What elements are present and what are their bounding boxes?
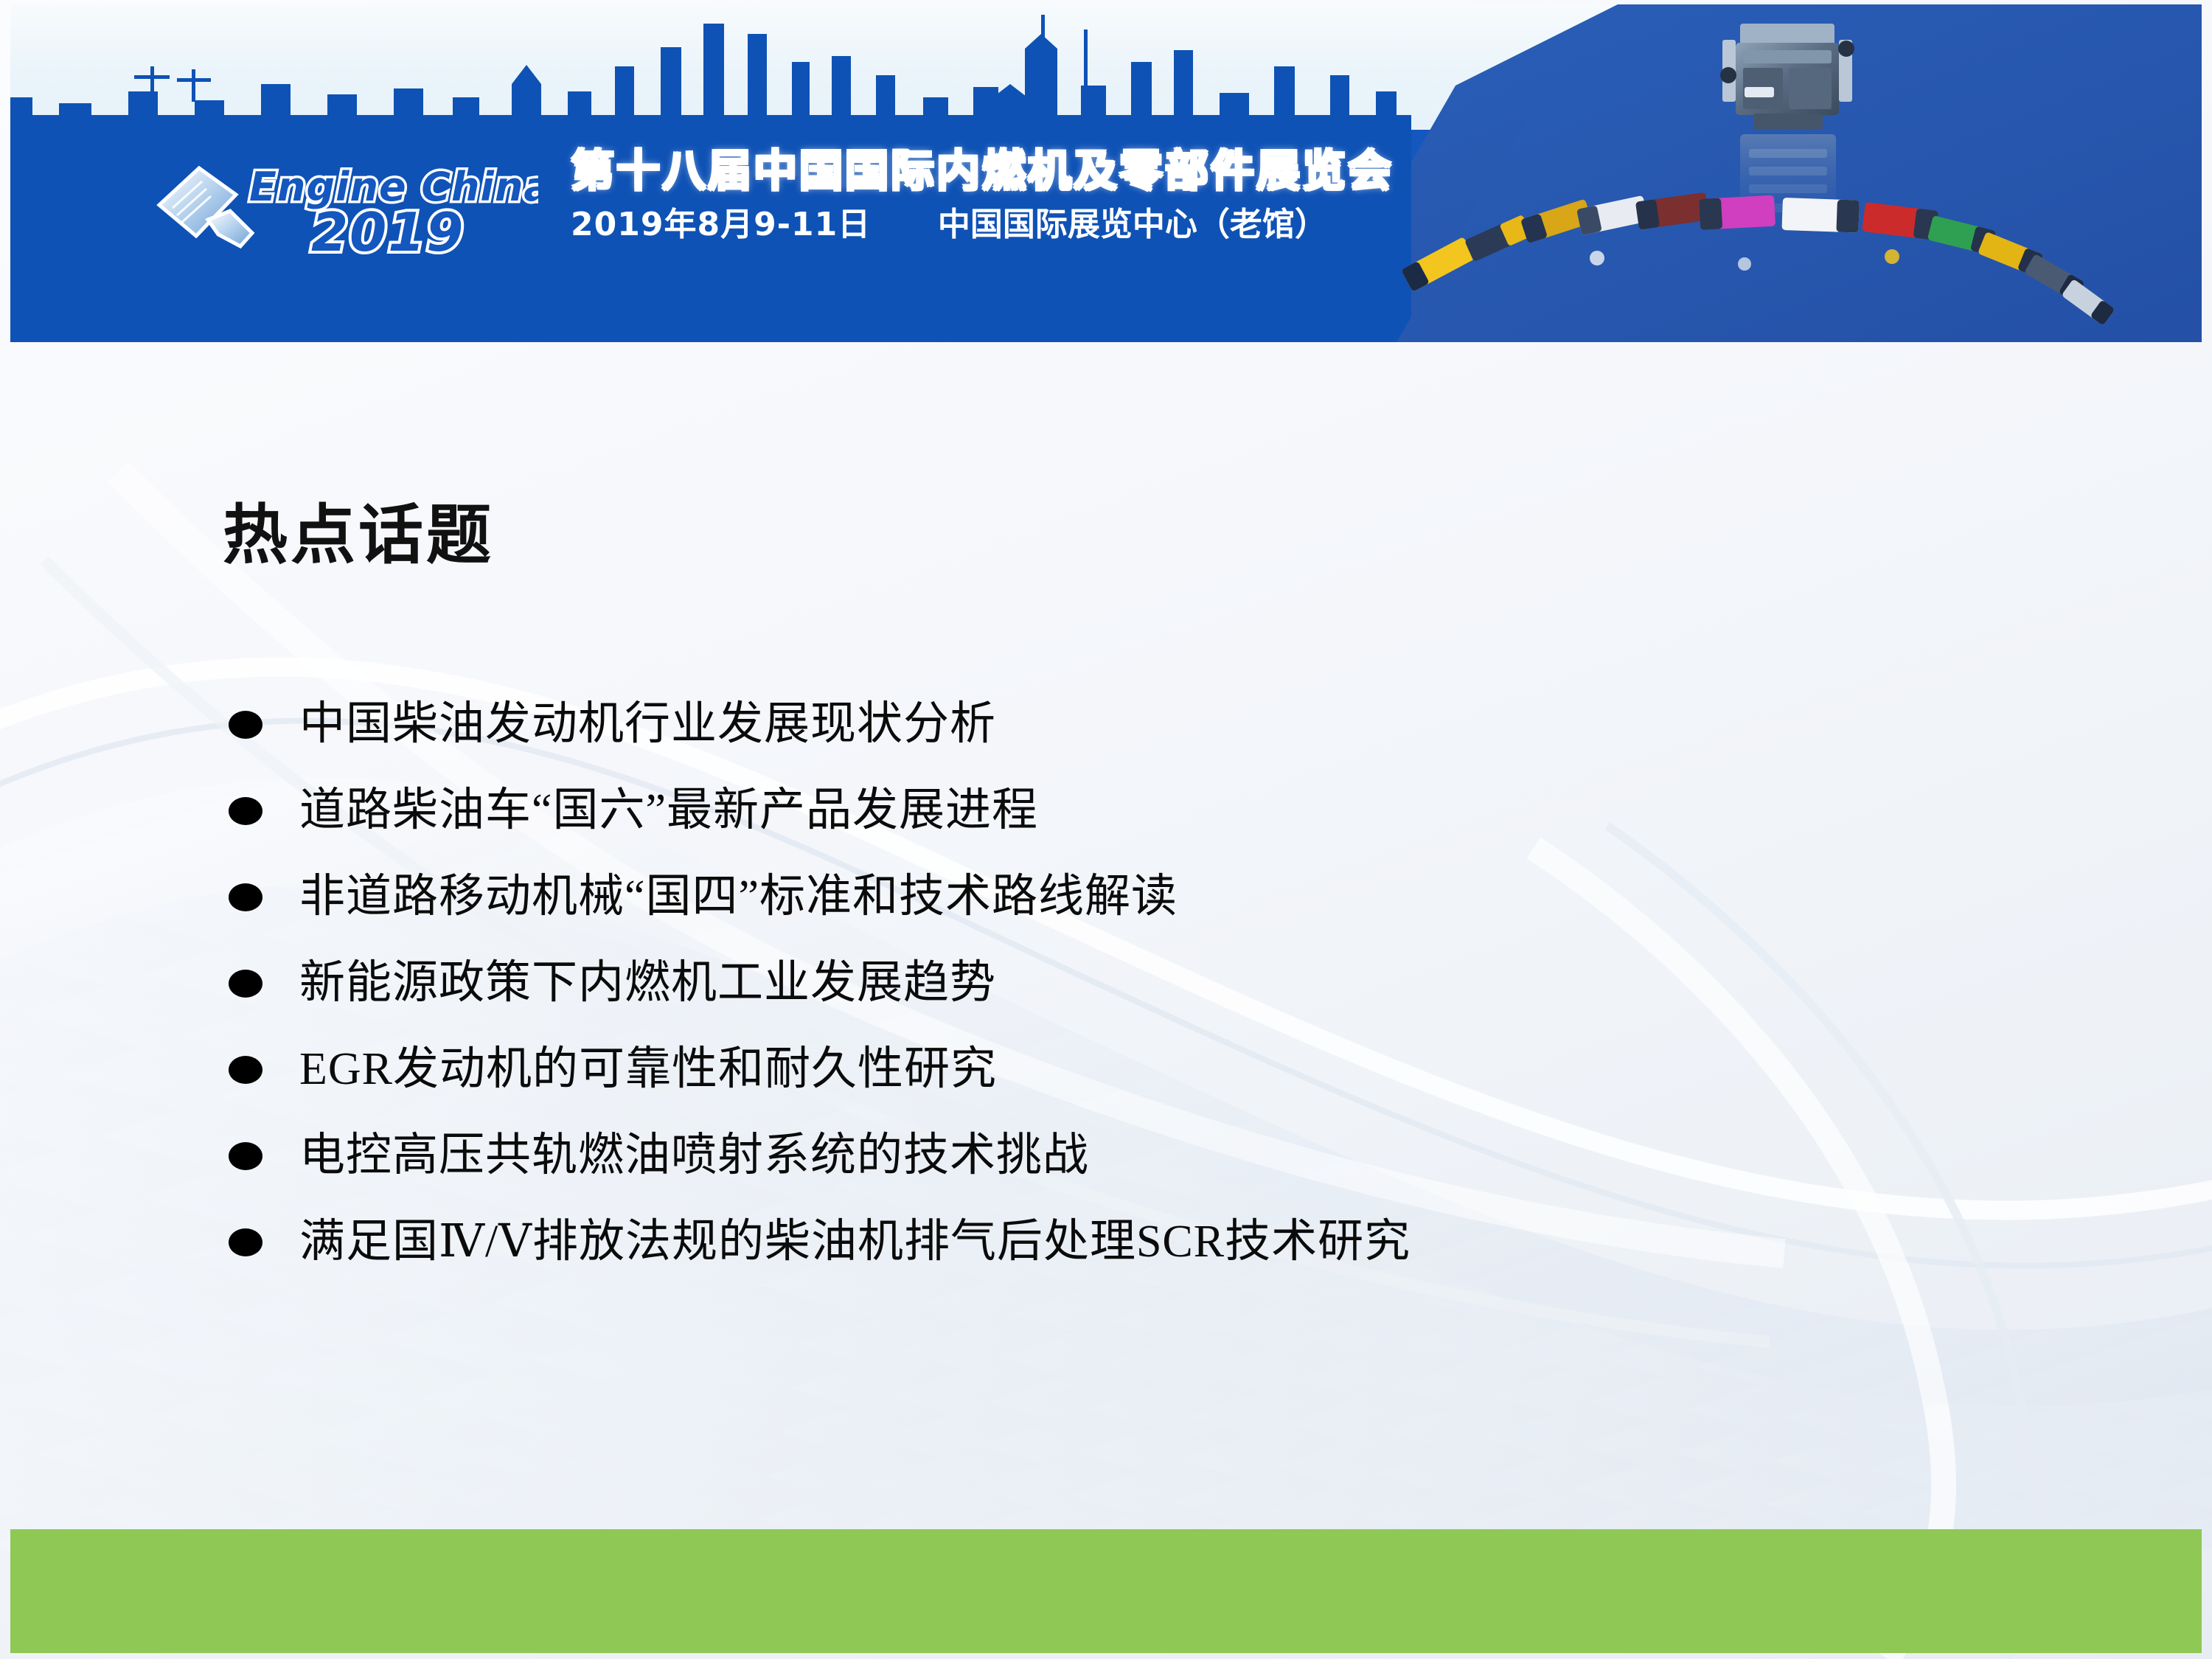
list-item-label: EGR发动机的可靠性和耐久性研究 bbox=[299, 1046, 997, 1093]
bullet-ellipse-icon bbox=[229, 797, 262, 825]
banner-subtitle: 2019年8月9-11日 中国国际展览中心（老馆） bbox=[571, 209, 1441, 241]
banner-text-block: 第十八届中国国际内燃机及零部件展览会 2019年8月9-11日 中国国际展览中心… bbox=[571, 149, 1441, 241]
page-title: 热点话题 bbox=[223, 503, 494, 568]
list-item: 满足国Ⅳ/Ⅴ排放法规的柴油机排气后处理SCR技术研究 bbox=[229, 1199, 2072, 1285]
bullet-ellipse-icon bbox=[229, 1056, 262, 1084]
banner-venue: 中国国际展览中心（老馆） bbox=[938, 206, 1327, 243]
engine-china-logo: Engine China 2019 bbox=[147, 152, 531, 270]
list-item: 新能源政策下内燃机工业发展趋势 bbox=[229, 940, 2072, 1026]
slide-content: 热点话题 中国柴油发动机行业发展现状分析 道路柴油车“国六”最新产品发展进程 非… bbox=[0, 342, 2212, 1526]
engine-and-vehicle-fleet-photo bbox=[1376, 4, 2202, 342]
event-banner: Engine China 2019 第十八届中国国际内燃机及零部件展览会 201… bbox=[10, 4, 2202, 342]
bullet-ellipse-icon bbox=[229, 883, 262, 911]
list-item: 非道路移动机械“国四”标准和技术路线解读 bbox=[229, 854, 2072, 940]
list-item-label: 满足国Ⅳ/Ⅴ排放法规的柴油机排气后处理SCR技术研究 bbox=[299, 1218, 1411, 1266]
list-item-label: 非道路移动机械“国四”标准和技术路线解读 bbox=[299, 873, 1178, 921]
bullet-ellipse-icon bbox=[229, 1228, 262, 1256]
list-item-label: 新能源政策下内燃机工业发展趋势 bbox=[299, 959, 996, 1007]
list-item-label: 电控高压共轨燃油喷射系统的技术挑战 bbox=[299, 1132, 1089, 1180]
list-item: EGR发动机的可靠性和耐久性研究 bbox=[229, 1026, 2072, 1113]
bullet-ellipse-icon bbox=[229, 1142, 262, 1170]
footer-green-bar bbox=[10, 1529, 2202, 1653]
bullet-ellipse-icon bbox=[229, 970, 262, 998]
banner-date: 2019年8月9-11日 bbox=[571, 206, 871, 243]
engine-china-wordmark: Engine China 2019 bbox=[243, 156, 538, 267]
list-item: 中国柴油发动机行业发展现状分析 bbox=[229, 681, 2072, 768]
piston-icon bbox=[147, 156, 258, 267]
banner-title: 第十八届中国国际内燃机及零部件展览会 bbox=[571, 149, 1441, 192]
list-item: 道路柴油车“国六”最新产品发展进程 bbox=[229, 768, 2072, 854]
bullet-ellipse-icon bbox=[229, 711, 262, 739]
list-item-label: 道路柴油车“国六”最新产品发展进程 bbox=[299, 787, 1038, 835]
vehicle-fleet-illustration bbox=[1401, 192, 2115, 326]
hot-topics-list: 中国柴油发动机行业发展现状分析 道路柴油车“国六”最新产品发展进程 非道路移动机… bbox=[229, 681, 2072, 1285]
list-item: 电控高压共轨燃油喷射系统的技术挑战 bbox=[229, 1113, 2072, 1199]
list-item-label: 中国柴油发动机行业发展现状分析 bbox=[299, 700, 996, 748]
presentation-slide: Engine China 2019 第十八届中国国际内燃机及零部件展览会 201… bbox=[0, 0, 2212, 1659]
svg-text:2019: 2019 bbox=[311, 201, 465, 263]
